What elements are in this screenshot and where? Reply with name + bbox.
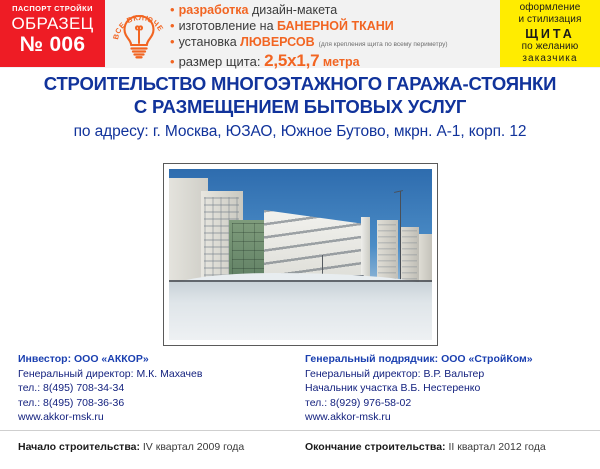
features-list: • разработка дизайн-макета • изготовлени…	[170, 2, 495, 70]
feature-3-lead: установка	[179, 35, 241, 49]
investor-website[interactable]: www.akkor-msk.ru	[18, 410, 202, 425]
investor-line-3: тел.: 8(495) 708-36-36	[18, 396, 202, 411]
feature-item-1: • разработка дизайн-макета	[170, 2, 495, 18]
construction-start-value: IV квартал 2009 года	[143, 441, 244, 453]
contractor-heading: Генеральный подрядчик: ООО «СтройКом»	[305, 352, 533, 367]
investor-line-1: Генеральный директор: М.К. Махачев	[18, 367, 202, 382]
feature-4-lead: размер щита:	[179, 54, 265, 69]
photo-tower-right-2	[400, 227, 418, 285]
photo-tower-right-3	[419, 234, 432, 285]
feature-1-rest: дизайн-макета	[248, 3, 337, 17]
yellow-line-4: по желанию	[522, 41, 579, 54]
yellow-line-5: заказчика	[522, 53, 577, 66]
construction-start-label: Начало строительства:	[18, 441, 140, 453]
styling-offer-panel: оформление и стилизация ЩИТА по желанию …	[500, 0, 600, 67]
construction-end: Окончание строительства: II квартал 2012…	[305, 441, 546, 453]
contacts-section: Инвестор: ООО «АККОР» Генеральный директ…	[0, 352, 600, 426]
bullet-dot-icon: •	[170, 2, 175, 18]
construction-end-label: Окончание строительства:	[305, 441, 446, 453]
header-bar: ПАСПОРТ СТРОЙКИ ОБРАЗЕЦ № 006	[0, 0, 600, 68]
yellow-line-1: оформление	[520, 2, 581, 15]
badge-word: ОБРАЗЕЦ	[11, 14, 93, 33]
investor-block: Инвестор: ООО «АККОР» Генеральный директ…	[18, 352, 202, 425]
construction-site-photo	[169, 169, 432, 340]
photo-tower-right-1	[377, 220, 398, 285]
photo-street-lamp	[400, 191, 401, 280]
bullet-dot-icon: •	[170, 34, 175, 50]
construction-end-value: II квартал 2012 года	[448, 441, 545, 453]
svg-text:ВСЕ ВКЛЮЧЕНО: ВСЕ ВКЛЮЧЕНО	[108, 3, 165, 40]
contractor-website[interactable]: www.akkor-msk.ru	[305, 410, 533, 425]
badge-number: № 006	[20, 33, 86, 56]
feature-2-strong: БАНЕРНОЙ ТКАНИ	[277, 19, 394, 33]
title-line-2: С РАЗМЕЩЕНИЕМ БЫТОВЫХ УСЛУГ	[0, 95, 600, 118]
construction-photo-frame	[163, 163, 438, 346]
contractor-line-3: тел.: 8(929) 976-58-02	[305, 396, 533, 411]
construction-start: Начало строительства: IV квартал 2009 го…	[18, 441, 244, 453]
feature-2-lead: изготовление на	[179, 19, 277, 33]
construction-billboard-poster: ПАСПОРТ СТРОЙКИ ОБРАЗЕЦ № 006	[0, 0, 600, 469]
title-subtitle-address: по адресу: г. Москва, ЮЗАО, Южное Бутово…	[0, 121, 600, 143]
photo-snow-ground	[169, 282, 432, 340]
bullet-dot-icon: •	[170, 18, 175, 34]
feature-3-note: (для крепления щита по всему периметру)	[319, 41, 448, 48]
lightbulb-icon: ВСЕ ВКЛЮЧЕНО	[108, 3, 170, 65]
footer-bar: Начало строительства: IV квартал 2009 го…	[0, 431, 600, 469]
feature-item-3: • установка ЛЮВЕРСОВ(для крепления щита …	[170, 34, 495, 53]
contractor-block: Генеральный подрядчик: ООО «СтройКом» Ге…	[305, 352, 533, 425]
yellow-line-3: ЩИТА	[525, 27, 575, 41]
contractor-line-1: Генеральный директор: В.Р. Вальтер	[305, 367, 533, 382]
feature-3-strong: ЛЮВЕРСОВ	[240, 35, 315, 49]
yellow-line-2: и стилизация	[518, 14, 581, 27]
feature-4-size: 2,5х1,7	[264, 51, 319, 70]
contractor-line-2: Начальник участка В.Б. Нестеренко	[305, 381, 533, 396]
badge-kicker: ПАСПОРТ СТРОЙКИ	[12, 4, 93, 14]
feature-4-unit: метра	[319, 55, 359, 69]
feature-item-4: • размер щита: 2,5х1,7 метра	[170, 53, 495, 70]
bullet-dot-icon: •	[170, 54, 175, 70]
page-title: СТРОИТЕЛЬСТВО МНОГОЭТАЖНОГО ГАРАЖА-СТОЯН…	[0, 72, 600, 143]
feature-item-2: • изготовление на БАНЕРНОЙ ТКАНИ	[170, 18, 495, 34]
investor-line-2: тел.: 8(495) 708-34-34	[18, 381, 202, 396]
title-line-1: СТРОИТЕЛЬСТВО МНОГОЭТАЖНОГО ГАРАЖА-СТОЯН…	[0, 72, 600, 95]
investor-heading: Инвестор: ООО «АККОР»	[18, 352, 202, 367]
feature-1-strong: разработка	[179, 3, 249, 17]
sample-badge: ПАСПОРТ СТРОЙКИ ОБРАЗЕЦ № 006	[0, 0, 105, 67]
